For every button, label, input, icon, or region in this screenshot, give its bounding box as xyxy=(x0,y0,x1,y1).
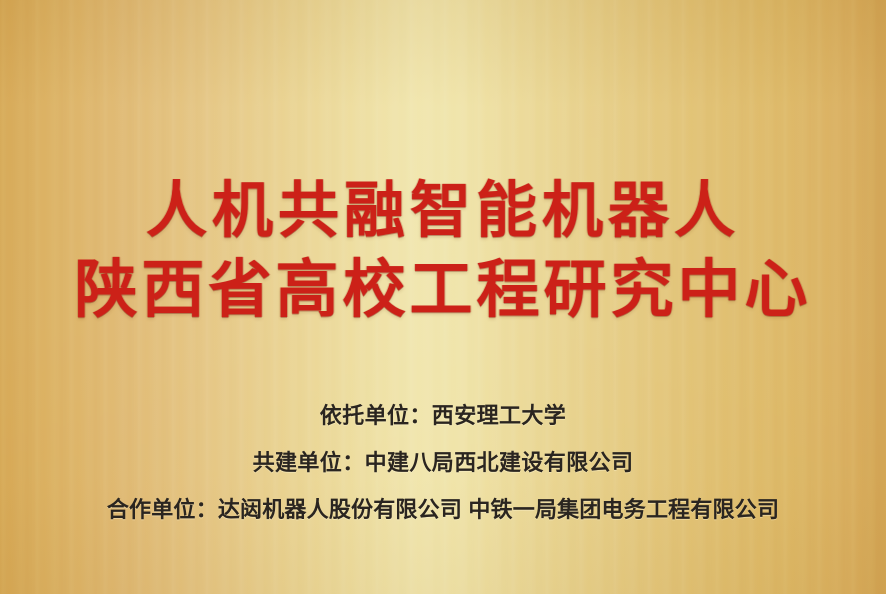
affiliation-co-builder: 共建单位：中建八局西北建设有限公司 xyxy=(0,439,886,486)
affiliation-partners: 合作单位：达闼机器人股份有限公司 中铁一局集团电务工程有限公司 xyxy=(0,486,886,533)
affiliation-host-institution: 依托单位：西安理工大学 xyxy=(0,392,886,439)
plaque-title: 人机共融智能机器人 陕西省高校工程研究中心 xyxy=(0,172,886,328)
plaque-content: 人机共融智能机器人 陕西省高校工程研究中心 依托单位：西安理工大学 共建单位：中… xyxy=(0,0,886,594)
award-plaque: 人机共融智能机器人 陕西省高校工程研究中心 依托单位：西安理工大学 共建单位：中… xyxy=(0,0,886,594)
affiliation-list: 依托单位：西安理工大学 共建单位：中建八局西北建设有限公司 合作单位：达闼机器人… xyxy=(0,392,886,533)
title-line-2: 陕西省高校工程研究中心 xyxy=(0,250,886,328)
title-line-1: 人机共融智能机器人 xyxy=(0,172,886,250)
